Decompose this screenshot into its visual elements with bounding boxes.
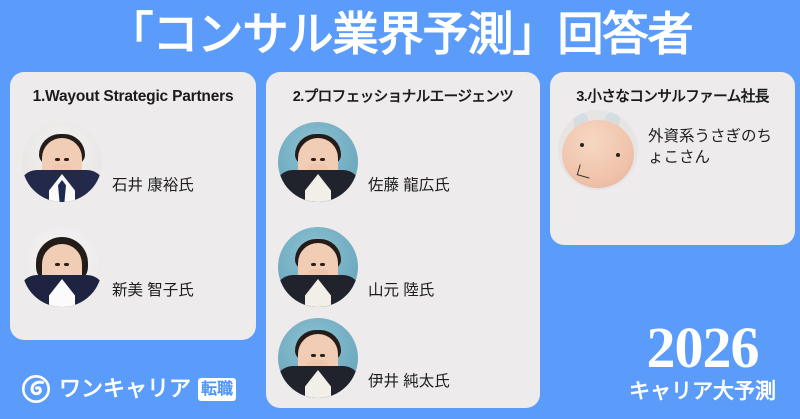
person-name-choko: 外資系うさぎのちょこさん (648, 126, 783, 168)
card-2-title: 2.プロフェッショナルエージェンツ (266, 88, 540, 106)
page-title: 「コンサル業界予測」回答者 (0, 6, 800, 64)
year-number: 2026 (629, 319, 776, 377)
card-3-title: 3.小さなコンサルファーム社長 (550, 88, 795, 106)
person-row-yamamoto: 山元 陸氏 (278, 227, 434, 307)
logo-wordmark: ワンキャリア (59, 376, 191, 402)
avatar-yamamoto (278, 227, 358, 307)
slide-canvas: 「コンサル業界予測」回答者 1.Wayout Strategic Partner… (0, 0, 800, 419)
logo-badge-tenshoku: 転職 (198, 378, 236, 401)
male-portrait-icon (278, 318, 358, 398)
male-portrait-icon (22, 122, 102, 202)
person-row-sato: 佐藤 龍広氏 (278, 122, 450, 202)
brand-logo[interactable]: ワンキャリア 転職 (22, 375, 236, 403)
year-block: 2026 キャリア大予測 (629, 319, 776, 405)
person-row-ishii: 石井 康裕氏 (22, 122, 194, 202)
card-1-title: 1.Wayout Strategic Partners (10, 88, 256, 106)
female-portrait-icon (22, 227, 102, 307)
avatar-ii (278, 318, 358, 398)
male-portrait-icon (278, 227, 358, 307)
avatar-choko (558, 110, 638, 190)
person-name-niimi: 新美 智子氏 (112, 280, 194, 301)
avatar-sato (278, 122, 358, 202)
person-name-ishii: 石井 康裕氏 (112, 175, 194, 196)
year-subtitle: キャリア大予測 (629, 379, 776, 405)
person-name-yamamoto: 山元 陸氏 (368, 280, 434, 301)
person-row-choko: 外資系うさぎのちょこさん (558, 110, 783, 190)
avatar-ishii (22, 122, 102, 202)
person-name-sato: 佐藤 龍広氏 (368, 175, 450, 196)
male-portrait-icon (278, 122, 358, 202)
person-name-ii: 伊井 純太氏 (368, 371, 450, 392)
person-row-ii: 伊井 純太氏 (278, 318, 450, 398)
avatar-niimi (22, 227, 102, 307)
rabbit-character-icon (558, 110, 638, 190)
onecareer-swirl-icon (22, 375, 50, 403)
person-row-niimi: 新美 智子氏 (22, 227, 194, 307)
